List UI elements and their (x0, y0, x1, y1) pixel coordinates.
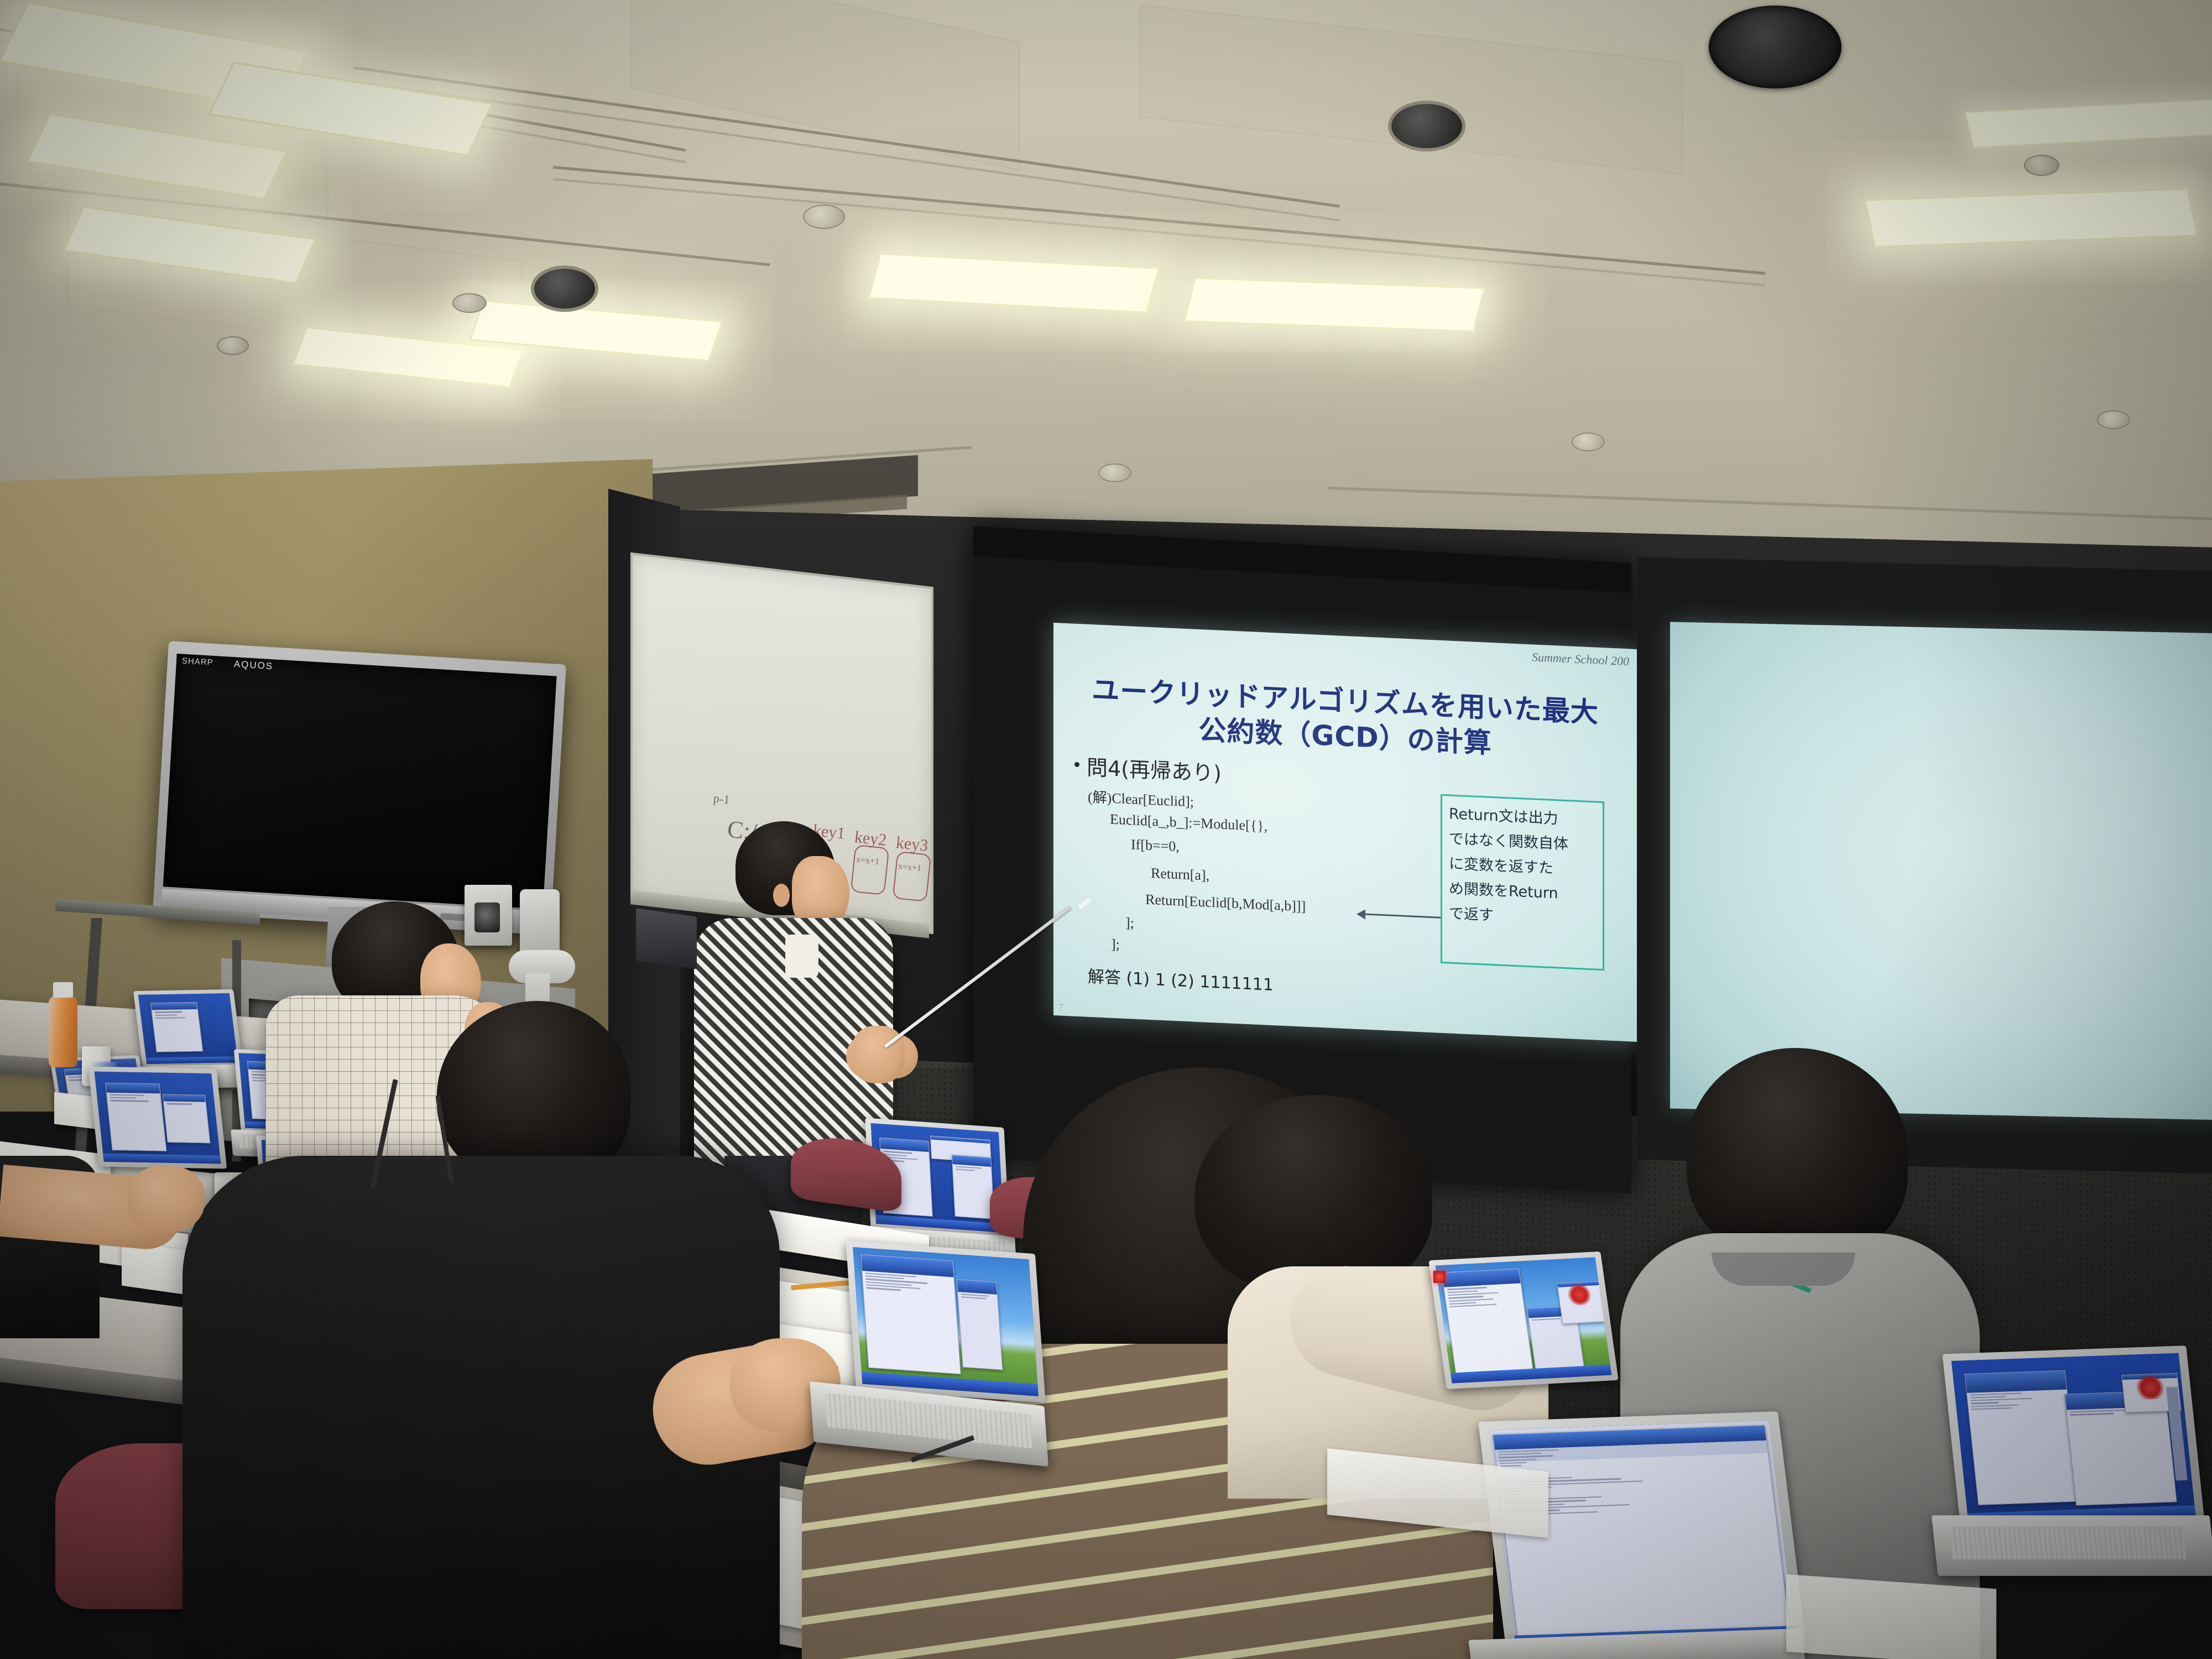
document-camera-lens (474, 902, 500, 932)
slide-code-line: (解)Clear[Euclid]; (1088, 786, 1194, 811)
projected-slide: Summer School 200 ユークリッドアルゴリズムを用いた最大 公約数… (1053, 623, 1637, 1042)
window[interactable] (1441, 1269, 1533, 1378)
laptop-mid-left[interactable] (88, 1066, 227, 1168)
smoke-detector (2024, 155, 2059, 176)
student-center-right-hair (1194, 1095, 1432, 1294)
ceiling-speaker-dome (1709, 6, 1841, 88)
window[interactable] (105, 1082, 167, 1151)
slide-bullet-text: 問4(再帰あり) (1087, 750, 1222, 787)
smoke-detector (1572, 432, 1605, 451)
classroom-photo-scene: SHARP AQUOS p-1 C://Wo key1 key2 key3 x=… (0, 0, 2212, 1659)
smoke-detector (2097, 410, 2130, 429)
laptop-screen[interactable] (1436, 1257, 1612, 1383)
presenter-hand (852, 1026, 905, 1083)
ceiling-speaker (531, 265, 598, 312)
window[interactable] (150, 1002, 203, 1052)
slide-code-line: ]; (1111, 936, 1120, 953)
slide-code-line: Euclid[a_,b_]:=Module[{}, (1110, 811, 1267, 835)
laptop-back-left-1[interactable] (133, 989, 243, 1068)
slide-code-line: ]; (1125, 915, 1134, 932)
notebook-window[interactable] (1964, 1370, 2079, 1505)
callout-arrow-head (1357, 909, 1365, 920)
callout-line: め関数をReturn (1449, 877, 1603, 905)
tv-logo: AQUOS (233, 659, 273, 672)
laptop-mid-right[interactable] (1428, 1251, 1618, 1389)
student-right-hair (1687, 1048, 1908, 1258)
slide-code-line: Return[a], (1151, 865, 1209, 884)
smoke-detector (803, 205, 845, 229)
presenter-ear (773, 884, 790, 907)
ceiling-speaker (1388, 101, 1465, 152)
equipment-power-led (1433, 1271, 1446, 1283)
whiteboard-key2-box (851, 844, 890, 895)
keyboard[interactable] (825, 1393, 1033, 1449)
laptop-screen[interactable] (1952, 1353, 2197, 1528)
slide-header: Summer School 200 (1532, 650, 1629, 669)
palette-window[interactable] (957, 1279, 1003, 1370)
student-far-left-edge-hand (127, 1166, 205, 1232)
callout-line: ではなく関数自体 (1449, 827, 1603, 855)
laptop-screen[interactable] (138, 993, 238, 1064)
whiteboard-note-p1: p-1 (713, 791, 731, 807)
laptop-front-center[interactable] (846, 1240, 1045, 1402)
whiteboard-key3-box (893, 851, 932, 902)
callout-line: Return文は出力 (1449, 802, 1603, 831)
laptop-far-right-base (1932, 1515, 2212, 1575)
notebook-window[interactable] (860, 1254, 961, 1374)
laptop-far-right[interactable] (1942, 1345, 2205, 1536)
window[interactable] (951, 1155, 994, 1219)
callout-line: で返す (1449, 901, 1603, 930)
tv-screen (163, 654, 557, 909)
bottle-cap (53, 982, 73, 998)
window[interactable] (162, 1094, 210, 1143)
drink-bottle (49, 995, 77, 1067)
slide-answer-line: 解答 (1) 1 (2) 1111111 (1088, 963, 1274, 995)
presenter-undershirt (785, 935, 818, 978)
callout-line: に変数を返すた (1449, 852, 1603, 880)
smoke-detector (1098, 463, 1131, 482)
smoke-detector (452, 293, 487, 313)
tv-brand-label: SHARP (182, 656, 214, 667)
paper-sheet (1786, 1574, 1996, 1659)
keyboard[interactable] (1949, 1526, 2187, 1559)
slide-bullet-marker (1074, 762, 1079, 767)
taskbar[interactable] (146, 1056, 238, 1064)
laptop-screen[interactable] (95, 1072, 221, 1164)
av-speaker (636, 908, 697, 969)
smoke-detector (217, 336, 249, 355)
student-right-collar (1712, 1253, 1855, 1286)
callout-leader-line (1363, 913, 1441, 918)
laptop-screen[interactable] (853, 1247, 1039, 1396)
slide-callout-box: Return文は出力 ではなく関数自体 に変数を返すた め関数をReturn で… (1441, 794, 1604, 971)
taskbar[interactable] (103, 1154, 221, 1164)
mathematica-logo-icon (1563, 1284, 1595, 1306)
slide-code-line: Return[Euclid[b,Mod[a,b]]] (1145, 891, 1306, 915)
slide-code-line: If[b==0, (1131, 836, 1180, 855)
mathematica-logo-icon (2131, 1375, 2169, 1400)
slide-page-number: 7 (1059, 1003, 1063, 1013)
projection-screen-right (1670, 622, 2212, 1120)
